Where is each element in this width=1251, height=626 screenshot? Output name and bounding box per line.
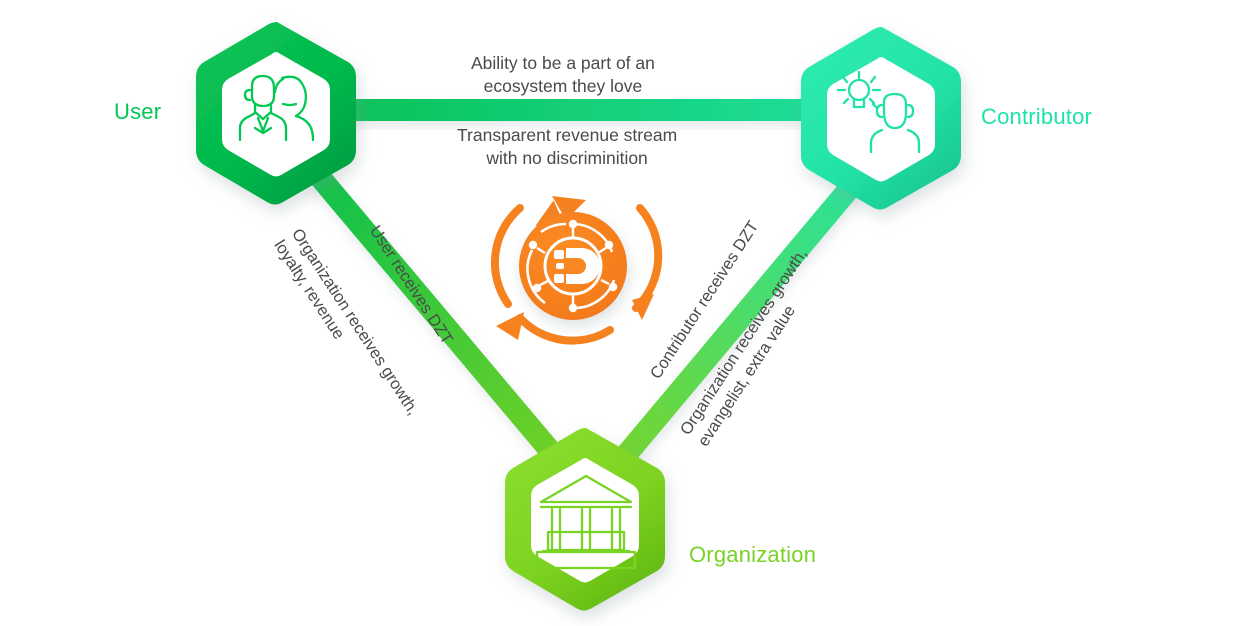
- edge-label-line-2: with no discriminition: [457, 147, 677, 170]
- dzt-coin-icon: [519, 212, 627, 320]
- edge-label-line-2: ecosystem they love: [471, 75, 655, 98]
- node-label-contributor: Contributor: [981, 104, 1092, 130]
- dzt-token-center: [495, 196, 658, 341]
- edge-label-line-1: Ability to be a part of an: [471, 52, 655, 75]
- edge-label-user-contributor-above: Ability to be a part of an ecosystem the…: [471, 52, 655, 98]
- node-label-organization: Organization: [689, 542, 816, 568]
- node-contributor[interactable]: [801, 27, 961, 210]
- edge-contributor-organization: [590, 152, 880, 498]
- diagram-canvas: User Contributor Organization Ability to…: [0, 0, 1251, 626]
- edge-label-user-contributor-below: Transparent revenue stream with no discr…: [457, 124, 677, 170]
- node-label-user: User: [114, 99, 161, 125]
- edge-label-line-1: Transparent revenue stream: [457, 124, 677, 147]
- node-organization[interactable]: [505, 428, 665, 611]
